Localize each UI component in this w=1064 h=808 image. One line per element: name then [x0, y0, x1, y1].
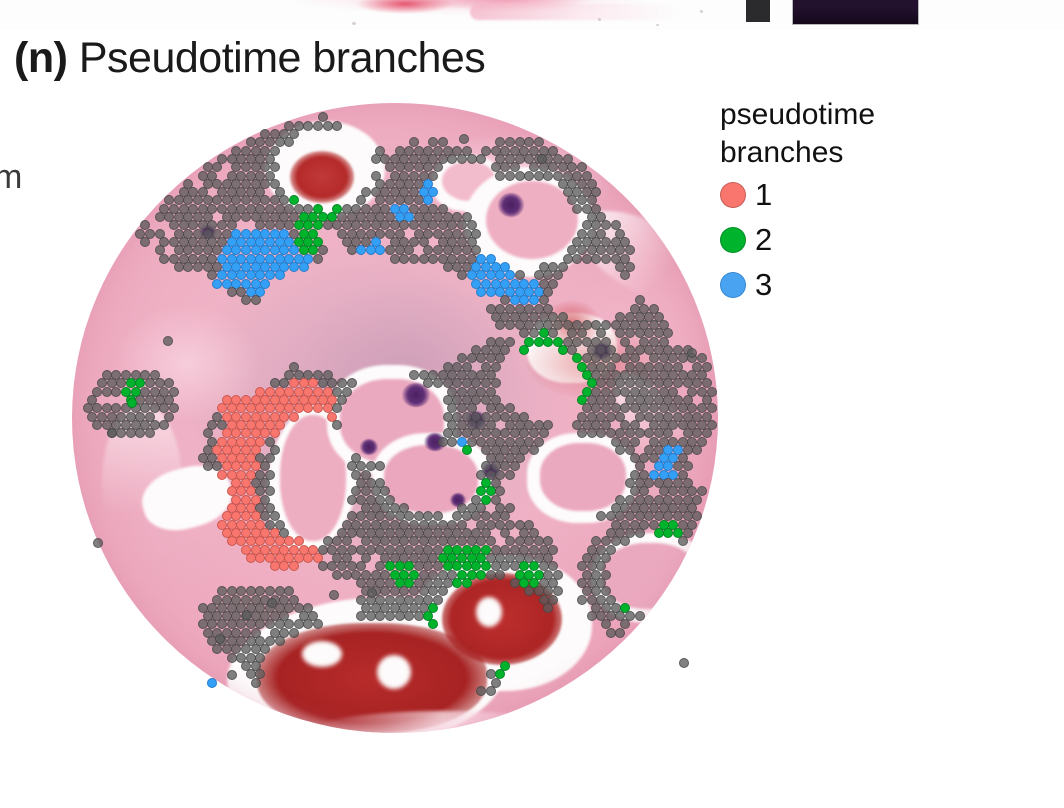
- legend-swatch-branch-2-icon: [720, 227, 746, 253]
- capture-spot: [267, 598, 277, 608]
- capture-spot: [385, 611, 395, 621]
- capture-spot: [207, 678, 217, 688]
- capture-spot: [318, 561, 328, 571]
- capture-spot: [313, 121, 323, 131]
- capture-spot: [390, 254, 400, 264]
- capture-spot: [587, 428, 597, 438]
- clipped-colorbar-dark: [792, 0, 919, 25]
- capture-spot: [347, 245, 357, 255]
- capture-spot: [313, 254, 323, 264]
- capture-spot: [505, 470, 515, 480]
- capture-spot: [116, 428, 126, 438]
- legend-item-3[interactable]: 3: [720, 262, 1000, 307]
- capture-spot: [356, 245, 366, 255]
- capture-spot: [476, 287, 486, 297]
- capture-spot: [679, 658, 689, 668]
- capture-spot: [409, 254, 419, 264]
- capture-spot: [606, 628, 616, 638]
- capture-spot: [227, 287, 237, 297]
- capture-spot: [289, 628, 299, 638]
- capture-spot: [135, 428, 145, 438]
- legend-title-line1: pseudotime: [720, 96, 1000, 134]
- capture-spot: [524, 586, 534, 596]
- capture-spot: [127, 398, 137, 408]
- capture-spot: [505, 320, 515, 330]
- capture-spot: [367, 588, 377, 598]
- capture-spot: [438, 437, 448, 447]
- capture-spot: [462, 578, 472, 588]
- capture-spot: [284, 137, 294, 147]
- capture-spot: [687, 348, 697, 358]
- dust-speck: [656, 24, 659, 26]
- capture-spot: [313, 619, 323, 629]
- capture-spot: [241, 295, 251, 305]
- capture-spot: [275, 636, 285, 646]
- capture-spot: [572, 204, 582, 214]
- capture-spot: [534, 171, 544, 181]
- capture-spot: [332, 121, 342, 131]
- capture-spot: [313, 403, 323, 413]
- capture-spot: [163, 336, 173, 346]
- page-title: (n) Pseudotime branches: [14, 36, 485, 81]
- legend-label-3: 3: [755, 269, 772, 300]
- capture-spot: [303, 121, 313, 131]
- capture-spot: [395, 611, 405, 621]
- capture-spot: [323, 220, 333, 230]
- capture-spot: [251, 295, 261, 305]
- capture-spot: [126, 428, 136, 438]
- capture-spot: [615, 628, 625, 638]
- capture-spot: [457, 154, 467, 164]
- capture-spot: [366, 611, 376, 621]
- capture-spot: [572, 254, 582, 264]
- capture-spot: [558, 345, 568, 355]
- panel-title-label: Pseudotime branches: [79, 34, 485, 82]
- capture-spot: [428, 619, 438, 629]
- capture-spot: [183, 262, 193, 272]
- capture-spot: [447, 154, 457, 164]
- panel-letter: (n): [14, 34, 67, 82]
- capture-spot: [515, 171, 525, 181]
- capture-spot: [414, 611, 424, 621]
- capture-spot: [217, 470, 227, 480]
- capture-spot: [342, 570, 352, 580]
- capture-spot: [155, 212, 165, 222]
- capture-spot: [635, 611, 645, 621]
- capture-spot: [433, 378, 443, 388]
- capture-spot: [452, 578, 462, 588]
- capture-spot: [107, 428, 117, 438]
- capture-spot: [227, 536, 237, 546]
- capture-spot: [654, 528, 664, 538]
- capture-spot: [375, 461, 385, 471]
- capture-spot: [495, 570, 505, 580]
- capture-spot: [635, 528, 645, 538]
- capture-spot: [366, 245, 376, 255]
- capture-spot: [428, 254, 438, 264]
- capture-spot: [356, 611, 366, 621]
- capture-spot: [486, 570, 496, 580]
- capture-spot: [174, 262, 184, 272]
- capture-spot: [255, 553, 265, 563]
- legend-swatch-branch-1-icon: [720, 182, 746, 208]
- capture-spot: [203, 461, 213, 471]
- legend-title: pseudotime branches: [720, 96, 1000, 172]
- capture-spot: [140, 237, 150, 247]
- capture-spot: [242, 610, 252, 620]
- capture-spot: [289, 561, 299, 571]
- capture-spot: [145, 428, 155, 438]
- legend-title-line2: branches: [720, 134, 1000, 172]
- capture-spot: [587, 611, 597, 621]
- clipped-panel-above-strip: [0, 0, 1064, 30]
- capture-spot: [303, 619, 313, 629]
- capture-spot: [159, 420, 169, 430]
- capture-spot: [111, 387, 121, 397]
- legend-item-1[interactable]: 1: [720, 172, 1000, 217]
- capture-spot: [212, 279, 222, 289]
- capture-spot-overlay: [72, 103, 718, 733]
- capture-spot: [543, 337, 553, 347]
- capture-spot: [459, 134, 469, 144]
- capture-spot: [495, 320, 505, 330]
- legend-item-2[interactable]: 2: [720, 217, 1000, 262]
- dust-speck: [352, 22, 356, 25]
- capture-spot: [215, 634, 225, 644]
- dust-speck: [700, 10, 703, 13]
- capture-spot: [93, 538, 103, 548]
- capture-spot: [299, 262, 309, 272]
- capture-spot: [102, 387, 112, 397]
- capture-spot: [375, 245, 385, 255]
- capture-spot: [303, 403, 313, 413]
- capture-spot: [505, 171, 515, 181]
- capture-spot: [486, 287, 496, 297]
- capture-spot: [577, 595, 587, 605]
- capture-spot: [227, 670, 237, 680]
- capture-spot: [524, 171, 534, 181]
- legend: pseudotime branches 1 2 3: [720, 96, 1000, 307]
- capture-spot: [601, 254, 611, 264]
- capture-spot: [159, 254, 169, 264]
- capture-spot: [443, 262, 453, 272]
- capture-spot: [246, 553, 256, 563]
- capture-spot: [289, 262, 299, 272]
- capture-spot: [462, 445, 472, 455]
- capture-spot: [241, 212, 251, 222]
- capture-spot: [347, 495, 357, 505]
- capture-spot: [375, 611, 385, 621]
- capture-spot: [279, 561, 289, 571]
- capture-spot: [596, 511, 606, 521]
- capture-spot: [692, 445, 702, 455]
- legend-label-1: 1: [755, 179, 772, 210]
- capture-spot: [92, 420, 102, 430]
- capture-spot: [534, 337, 544, 347]
- capture-spot: [399, 254, 409, 264]
- capture-spot: [332, 570, 342, 580]
- capture-spot: [371, 154, 381, 164]
- capture-spot: [409, 370, 419, 380]
- capture-spot: [476, 570, 486, 580]
- capture-spot: [615, 445, 625, 455]
- panel-title-text: [67, 34, 78, 82]
- capture-spot: [227, 653, 237, 663]
- capture-spot: [404, 611, 414, 621]
- capture-spot: [663, 528, 673, 538]
- capture-spot: [620, 270, 630, 280]
- capture-spot: [423, 378, 433, 388]
- capture-spot: [510, 578, 520, 588]
- capture-spot: [467, 154, 477, 164]
- capture-spot: [596, 428, 606, 438]
- capture-spot: [476, 686, 486, 696]
- legend-swatch-branch-3-icon: [720, 272, 746, 298]
- capture-spot: [323, 121, 333, 131]
- tissue-core-image: [72, 103, 718, 733]
- capture-spot: [447, 437, 457, 447]
- capture-spot: [270, 561, 280, 571]
- capture-spot: [519, 345, 529, 355]
- capture-spot: [212, 644, 222, 654]
- capture-spot: [275, 270, 285, 280]
- capture-spot: [486, 686, 496, 696]
- capture-spot: [591, 254, 601, 264]
- capture-spot: [303, 553, 313, 563]
- capture-spot: [537, 154, 547, 164]
- capture-spot: [332, 420, 342, 430]
- clipped-dark-rectangle-small: [746, 0, 770, 22]
- clipped-neighbor-label: m: [0, 160, 22, 194]
- capture-spot: [476, 154, 486, 164]
- capture-spot: [577, 428, 587, 438]
- capture-spot: [457, 270, 467, 280]
- legend-label-2: 2: [755, 224, 772, 255]
- capture-spot: [193, 262, 203, 272]
- dust-speck: [598, 18, 601, 21]
- capture-spot: [620, 536, 630, 546]
- capture-spot: [289, 412, 299, 422]
- capture-spot: [251, 678, 261, 688]
- capture-spot: [495, 171, 505, 181]
- capture-spot: [582, 254, 592, 264]
- capture-spot: [543, 171, 553, 181]
- capture-spot: [329, 590, 339, 600]
- capture-spot: [678, 536, 688, 546]
- capture-spot: [543, 603, 553, 613]
- clipped-tissue-tail: [470, 4, 680, 20]
- capture-spot: [529, 445, 539, 455]
- capture-spot: [419, 254, 429, 264]
- figure-panel: m (n) Pseudotime branches: [0, 0, 1064, 808]
